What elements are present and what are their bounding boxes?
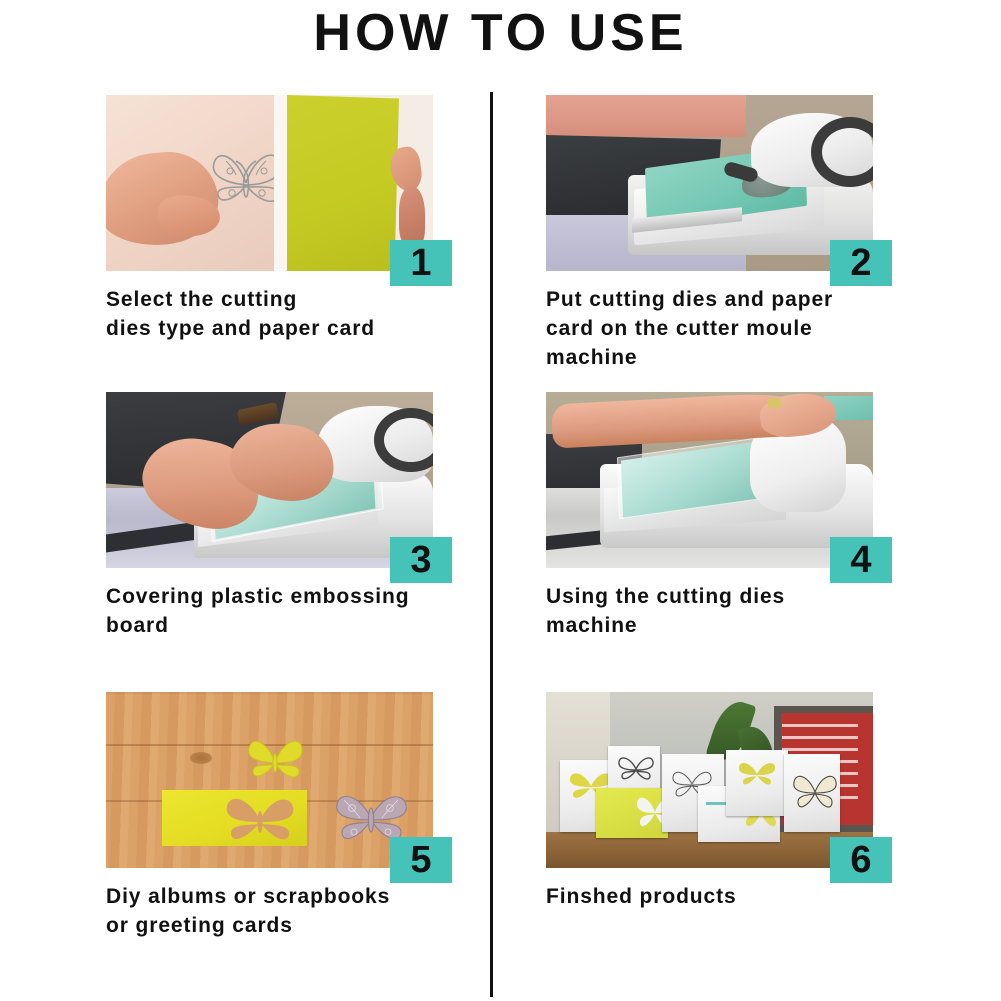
step-photo-wrap-3: 3	[106, 392, 433, 568]
step-image-3	[106, 392, 433, 568]
step-photo-wrap-2: 2	[546, 95, 873, 271]
step-card-6: 6 Finshed products	[546, 692, 946, 911]
step-image-6	[546, 692, 873, 868]
finger-ring	[768, 398, 781, 408]
step-photo-wrap-4: 4	[546, 392, 873, 568]
step-caption-2: Put cutting dies and paper card on the c…	[546, 285, 921, 372]
step-badge-1: 1	[390, 240, 452, 286]
step-caption-6: Finshed products	[546, 882, 921, 911]
step-caption-5: Diy albums or scrapbooks or greeting car…	[106, 882, 481, 940]
step-card-2: 2 Put cutting dies and paper card on the…	[546, 95, 946, 372]
finger-illustration	[399, 187, 425, 247]
step-card-3: 3 Covering plastic embossing board	[106, 392, 506, 640]
step-image-1	[106, 95, 433, 271]
step-photo-wrap-5: 5	[106, 692, 433, 868]
step-image-5	[106, 692, 433, 868]
step-card-1: 1 Select the cutting dies type and paper…	[106, 95, 506, 343]
photo-seam	[274, 95, 287, 271]
step-image-2	[546, 95, 873, 271]
step-card-5: 5 Diy albums or scrapbooks or greeting c…	[106, 692, 506, 940]
step-caption-1: Select the cutting dies type and paper c…	[106, 285, 481, 343]
step-caption-3: Covering plastic embossing board	[106, 582, 481, 640]
step-badge-4: 4	[830, 537, 892, 583]
step-photo-wrap-1: 1	[106, 95, 433, 271]
step-badge-6: 6	[830, 837, 892, 883]
butterfly-cutout-hole-icon	[218, 792, 302, 848]
step-badge-3: 3	[390, 537, 452, 583]
decorative-butterfly-card-icon	[788, 768, 842, 816]
step-card-4: 4 Using the cutting dies machine	[546, 392, 946, 640]
wood-knot	[190, 752, 212, 764]
step-badge-5: 5	[390, 837, 452, 883]
yellow-paper-card	[287, 95, 399, 271]
step-photo-wrap-6: 6	[546, 692, 873, 868]
steps-grid: 1 Select the cutting dies type and paper…	[0, 85, 1001, 1001]
step-badge-2: 2	[830, 240, 892, 286]
page-title: HOW TO USE	[0, 2, 1001, 64]
step-image-4	[546, 392, 873, 568]
yellow-butterfly-card-icon	[732, 758, 782, 792]
torso-skin	[546, 95, 746, 137]
yellow-butterfly-cutout-icon	[244, 734, 306, 788]
step-caption-4: Using the cutting dies machine	[546, 582, 921, 640]
grey-butterfly-card-icon	[614, 754, 658, 784]
